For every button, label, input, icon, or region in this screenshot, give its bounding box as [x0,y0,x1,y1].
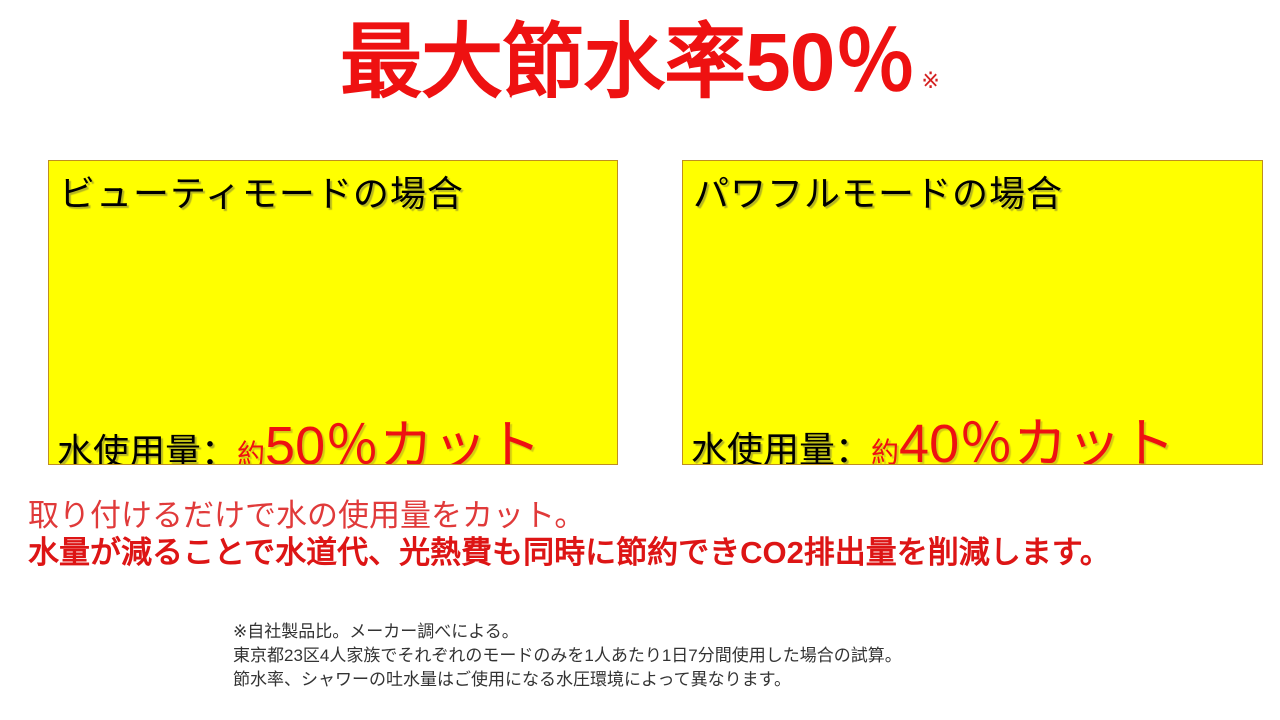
water-usage-value: 40％ [899,414,1013,465]
panel-powerful-row-water-usage: 水使用量：約40％カット [691,417,1175,465]
panel-powerful-mode: パワフルモードの場合 水使用量：約40％カット 年間 ：約16,000円カット [682,160,1263,465]
title-footnote-marker-icon: ※ [921,68,939,93]
water-usage-approx: 約 [237,439,265,465]
panel-beauty-row-water-usage: 水使用量：約50％カット [57,419,541,465]
water-usage-label: 水使用量： [691,429,871,465]
footnote-line-3: 節水率、シャワーの吐水量はご使用になる水圧環境によって異なります。 [233,668,902,692]
page-title: 最大節水率50％※ [0,22,1280,104]
water-usage-label: 水使用量： [57,431,237,465]
body-copy-line-1: 取り付けるだけで水の使用量をカット。 [28,498,1258,534]
water-usage-suffix: カット [379,416,541,465]
panel-powerful-heading: パワフルモードの場合 [693,165,1063,217]
water-usage-suffix: カット [1013,414,1175,465]
body-copy-line-2: 水量が減ることで水道代、光熱費も同時に節約できCO2排出量を削減します。 [28,534,1258,571]
footnote: ※自社製品比。メーカー調べによる。 東京都23区4人家族でそれぞれのモードのみを… [233,620,902,692]
footnote-line-2: 東京都23区4人家族でそれぞれのモードのみを1人あたり1日7分間使用した場合の試… [233,644,902,668]
water-usage-value: 50％ [265,416,379,465]
page-title-text: 最大節水率50％ [340,17,915,108]
panel-beauty-mode: ビューティモードの場合 水使用量：約50％カット 年間 ：約20,000円カット [48,160,618,465]
footnote-line-1: ※自社製品比。メーカー調べによる。 [233,620,902,644]
panel-beauty-heading: ビューティモードの場合 [59,165,464,217]
body-copy: 取り付けるだけで水の使用量をカット。 水量が減ることで水道代、光熱費も同時に節約… [28,498,1258,571]
water-usage-approx: 約 [871,437,899,465]
